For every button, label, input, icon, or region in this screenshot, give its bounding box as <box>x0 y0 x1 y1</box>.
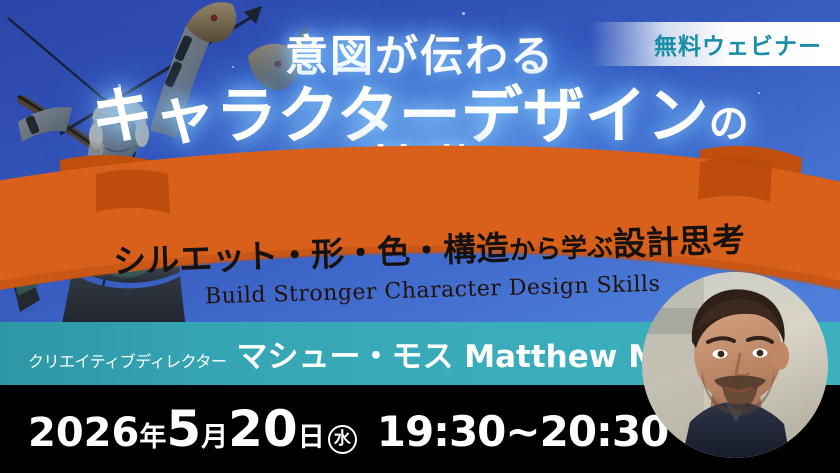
schedule-month: 5 <box>166 400 201 458</box>
schedule-month-unit: 月 <box>201 415 228 454</box>
speaker-portrait <box>642 272 828 458</box>
schedule-time: 19:30~20:30 <box>377 407 669 456</box>
speaker-info: クリエイティブディレクター マシュー・モス Matthew Moss 氏 <box>0 331 735 376</box>
webinar-banner: 無料ウェビナー 意図が伝わる キャラクターデザインの 基礎 シルエット・形・色・… <box>0 0 840 473</box>
speaker-role: クリエイティブディレクター <box>28 348 226 372</box>
title-line-1: 意図が伝わる <box>0 36 840 79</box>
ribbon-subtitle-jp-b: から学ぶ <box>509 233 614 267</box>
schedule-day-unit: 日 <box>298 415 325 454</box>
sky-star <box>462 12 465 15</box>
schedule-weekday: 水 <box>328 425 357 454</box>
portrait-photo <box>642 272 828 458</box>
title-line-2: キャラクターデザインの <box>0 83 840 148</box>
schedule-year-unit: 年 <box>139 415 166 454</box>
ribbon-subtitle-jp-c: 設計思考 <box>612 220 745 264</box>
schedule-year: 2026 <box>28 410 139 456</box>
schedule-day: 20 <box>228 400 298 458</box>
ribbon-subtitle-jp-a: シルエット・形・色・構造 <box>113 228 510 281</box>
schedule-text: 2026 年 5 月 20 日 水 19:30~20:30 <box>0 400 668 458</box>
